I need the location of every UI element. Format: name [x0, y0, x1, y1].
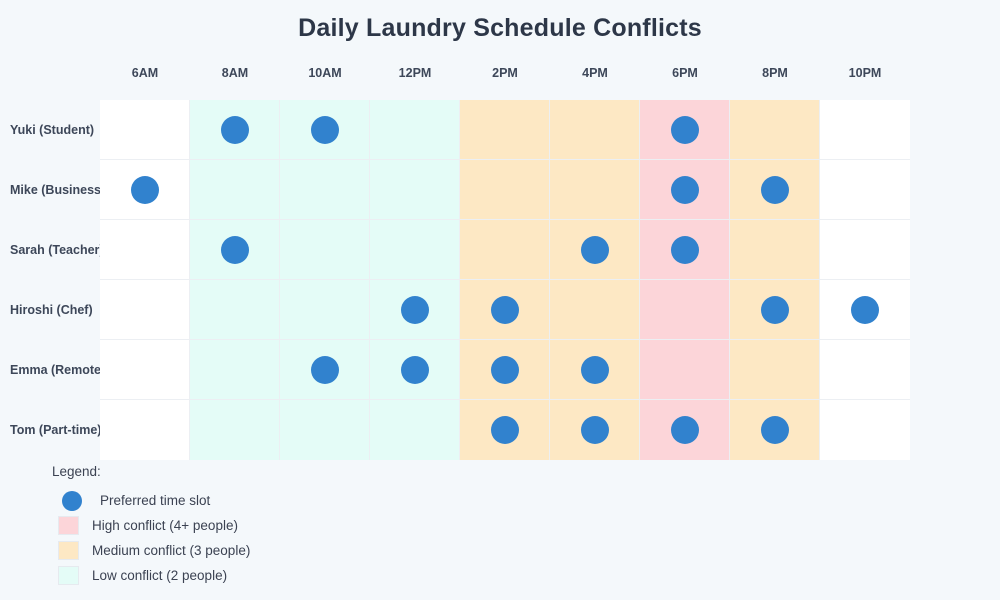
grid-cell[interactable] [550, 280, 640, 340]
grid-cell[interactable] [100, 280, 190, 340]
grid-cell[interactable] [730, 160, 820, 220]
grid-cell[interactable] [640, 400, 730, 460]
grid-cell[interactable] [370, 220, 460, 280]
grid-cell[interactable] [820, 280, 910, 340]
row-label-emma: Emma (Remote) [10, 340, 100, 400]
grid-cell[interactable] [640, 280, 730, 340]
preferred-slot-dot[interactable] [581, 236, 609, 264]
grid-cell[interactable] [370, 160, 460, 220]
grid-cell[interactable] [190, 100, 280, 160]
grid-cell[interactable] [100, 340, 190, 400]
grid-cell[interactable] [280, 220, 370, 280]
row-label-sarah: Sarah (Teacher) [10, 220, 100, 280]
preferred-slot-dot[interactable] [311, 356, 339, 384]
preferred-slot-dot[interactable] [671, 116, 699, 144]
grid-cell[interactable] [370, 280, 460, 340]
column-header-6am: 6AM [100, 66, 190, 80]
column-header-8pm: 8PM [730, 66, 820, 80]
page-title: Daily Laundry Schedule Conflicts [0, 14, 1000, 43]
preferred-slot-dot[interactable] [851, 296, 879, 324]
column-header-6pm: 6PM [640, 66, 730, 80]
column-header-12pm: 12PM [370, 66, 460, 80]
preferred-slot-dot[interactable] [221, 116, 249, 144]
grid-cell[interactable] [820, 400, 910, 460]
grid-cell[interactable] [280, 400, 370, 460]
preferred-slot-dot[interactable] [221, 236, 249, 264]
grid-cell[interactable] [820, 340, 910, 400]
grid-cell[interactable] [550, 160, 640, 220]
preferred-slot-dot[interactable] [401, 296, 429, 324]
grid-cell[interactable] [550, 100, 640, 160]
legend-marker [52, 516, 92, 535]
grid-cell[interactable] [280, 340, 370, 400]
grid-cell[interactable] [730, 220, 820, 280]
grid-cell[interactable] [460, 220, 550, 280]
legend: Legend: Preferred time slotHigh conflict… [52, 464, 472, 588]
grid-cell[interactable] [100, 160, 190, 220]
schedule-grid [100, 100, 910, 460]
grid-cell[interactable] [100, 100, 190, 160]
grid-cell[interactable] [280, 280, 370, 340]
preferred-slot-dot[interactable] [761, 296, 789, 324]
column-header-4pm: 4PM [550, 66, 640, 80]
preferred-slot-dot[interactable] [401, 356, 429, 384]
grid-cell[interactable] [460, 160, 550, 220]
grid-cell[interactable] [190, 400, 280, 460]
legend-items: Preferred time slotHigh conflict (4+ peo… [52, 488, 472, 588]
grid-cell[interactable] [460, 280, 550, 340]
grid-cell[interactable] [550, 400, 640, 460]
grid-cell[interactable] [370, 400, 460, 460]
grid-cell[interactable] [190, 280, 280, 340]
legend-marker [52, 491, 92, 511]
legend-swatch-icon [58, 516, 79, 535]
grid-cell[interactable] [460, 340, 550, 400]
legend-label: Preferred time slot [100, 493, 210, 508]
row-label-tom: Tom (Part-time) [10, 400, 100, 460]
legend-marker [52, 541, 92, 560]
preferred-slot-dot[interactable] [131, 176, 159, 204]
grid-cell[interactable] [370, 100, 460, 160]
preferred-slot-dot[interactable] [491, 356, 519, 384]
row-label-column: Yuki (Student)Mike (Business)Sarah (Teac… [0, 100, 100, 460]
row-label-mike: Mike (Business) [10, 160, 100, 220]
grid-cell[interactable] [460, 400, 550, 460]
column-header-10am: 10AM [280, 66, 370, 80]
preferred-slot-dot[interactable] [491, 296, 519, 324]
grid-cell[interactable] [280, 160, 370, 220]
grid-cell[interactable] [640, 220, 730, 280]
grid-cell[interactable] [460, 100, 550, 160]
legend-swatch-icon [58, 541, 79, 560]
preferred-slot-dot[interactable] [671, 416, 699, 444]
column-header-2pm: 2PM [460, 66, 550, 80]
legend-marker [52, 566, 92, 585]
grid-cell[interactable] [820, 220, 910, 280]
grid-cell[interactable] [550, 340, 640, 400]
legend-item: Preferred time slot [52, 488, 472, 513]
grid-cell[interactable] [820, 100, 910, 160]
schedule-conflict-chart: Daily Laundry Schedule Conflicts 6AM8AM1… [0, 0, 1000, 600]
grid-cell[interactable] [280, 100, 370, 160]
grid-cell[interactable] [100, 400, 190, 460]
legend-item: Low conflict (2 people) [52, 563, 472, 588]
grid-cell[interactable] [730, 280, 820, 340]
grid-cell[interactable] [640, 100, 730, 160]
grid-cell[interactable] [730, 400, 820, 460]
row-label-hiroshi: Hiroshi (Chef) [10, 280, 93, 340]
grid-cell[interactable] [190, 340, 280, 400]
grid-cell[interactable] [730, 340, 820, 400]
grid-cell[interactable] [730, 100, 820, 160]
legend-item: High conflict (4+ people) [52, 513, 472, 538]
row-label-yuki: Yuki (Student) [10, 100, 94, 160]
preferred-slot-dot[interactable] [311, 116, 339, 144]
preferred-slot-dot[interactable] [581, 356, 609, 384]
preferred-slot-dot[interactable] [671, 236, 699, 264]
preferred-slot-dot[interactable] [491, 416, 519, 444]
preferred-slot-dot[interactable] [761, 176, 789, 204]
grid-cell[interactable] [190, 160, 280, 220]
column-header-row: 6AM8AM10AM12PM2PM4PM6PM8PM10PM [100, 66, 910, 86]
grid-cell[interactable] [190, 220, 280, 280]
grid-cell[interactable] [640, 160, 730, 220]
preferred-slot-dot[interactable] [581, 416, 609, 444]
legend-item: Medium conflict (3 people) [52, 538, 472, 563]
column-header-8am: 8AM [190, 66, 280, 80]
preferred-slot-dot[interactable] [671, 176, 699, 204]
grid-cell[interactable] [100, 220, 190, 280]
preferred-slot-dot[interactable] [761, 416, 789, 444]
grid-cell[interactable] [370, 340, 460, 400]
legend-swatch-icon [58, 566, 79, 585]
legend-dot-icon [62, 491, 82, 511]
column-header-10pm: 10PM [820, 66, 910, 80]
legend-title: Legend: [52, 464, 472, 479]
grid-cell[interactable] [550, 220, 640, 280]
grid-cell[interactable] [640, 340, 730, 400]
legend-label: Low conflict (2 people) [92, 568, 227, 583]
legend-label: Medium conflict (3 people) [92, 543, 250, 558]
grid-cell[interactable] [820, 160, 910, 220]
legend-label: High conflict (4+ people) [92, 518, 238, 533]
